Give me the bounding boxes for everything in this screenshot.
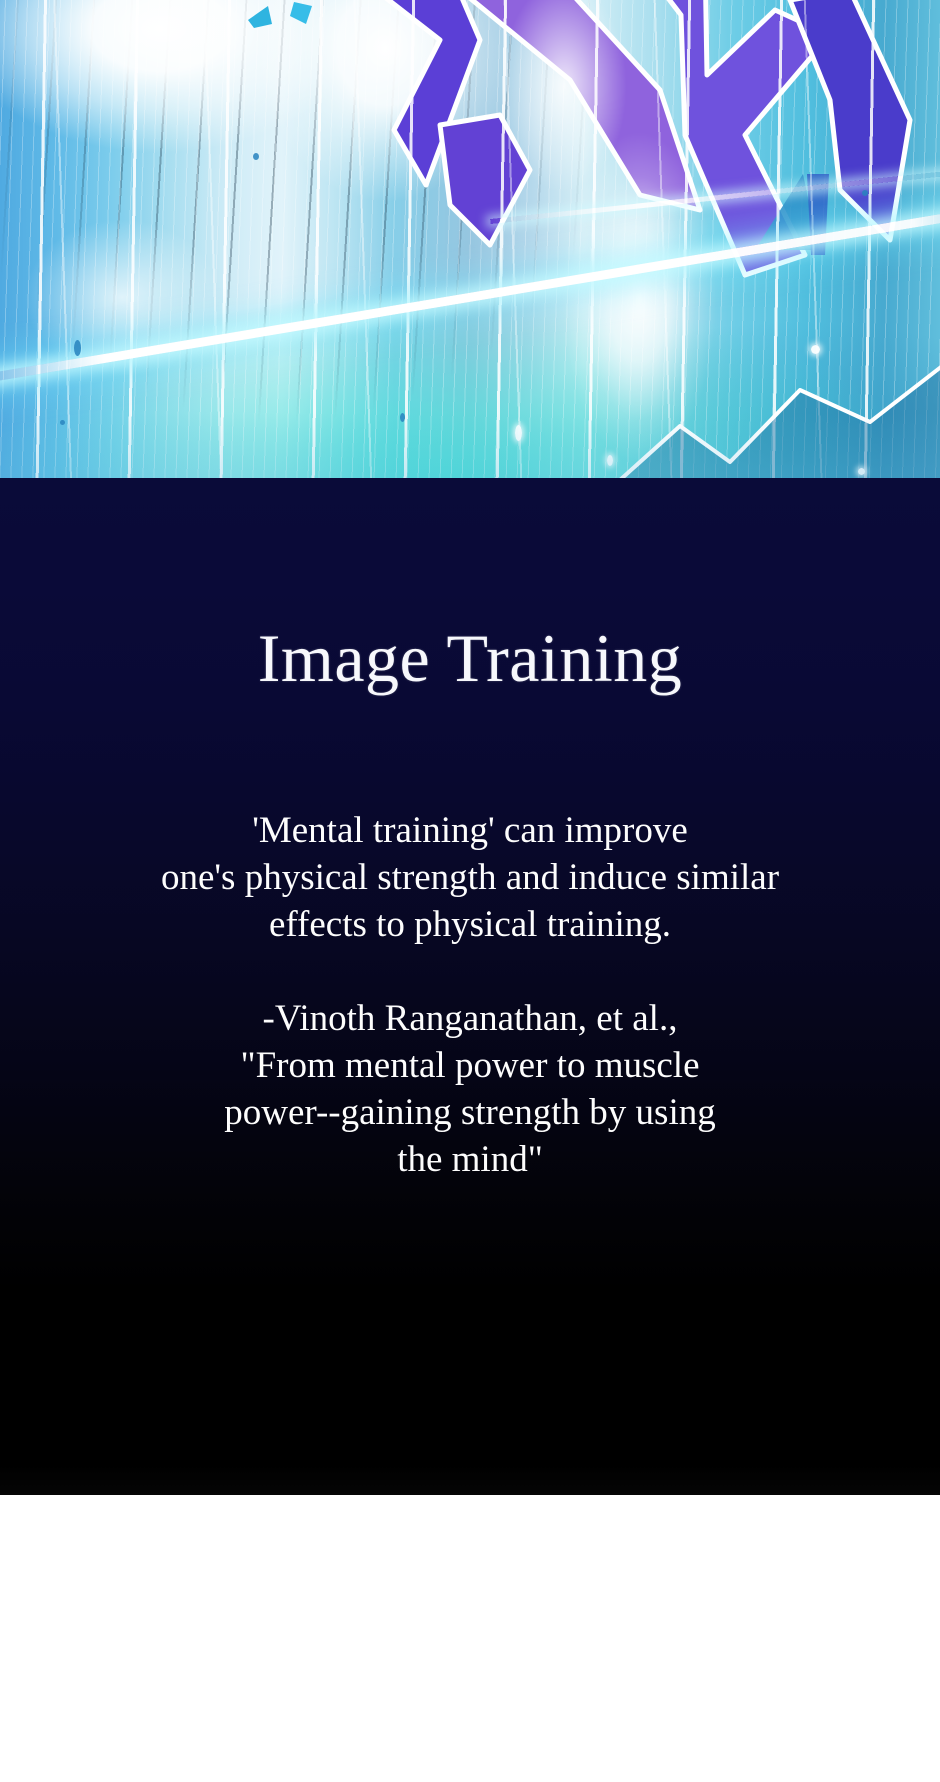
quote-body-line-1: 'Mental training' can improve [0,808,940,855]
quote-attribution-line-3: power--gaining strength by using [0,1090,940,1137]
quote-attribution-line-2: "From mental power to muscle [0,1043,940,1090]
quote-body-line-3: effects to physical training. [0,902,940,949]
quote-attribution-line-4: the mind" [0,1137,940,1184]
quote-panel: Image Training 'Mental training' can imp… [0,478,940,1495]
artwork-panel [0,0,940,480]
artwork-bottom-fade [0,0,940,480]
webtoon-page: Image Training 'Mental training' can imp… [0,0,940,1782]
quote-body: 'Mental training' can improve one's phys… [0,808,940,949]
page-footer-whitespace [0,1495,940,1782]
quote-content: Image Training 'Mental training' can imp… [0,478,940,1495]
quote-body-line-2: one's physical strength and induce simil… [0,855,940,902]
quote-attribution: -Vinoth Ranganathan, et al., "From menta… [0,996,940,1184]
quote-title: Image Training [0,623,940,694]
quote-attribution-line-1: -Vinoth Ranganathan, et al., [0,996,940,1043]
